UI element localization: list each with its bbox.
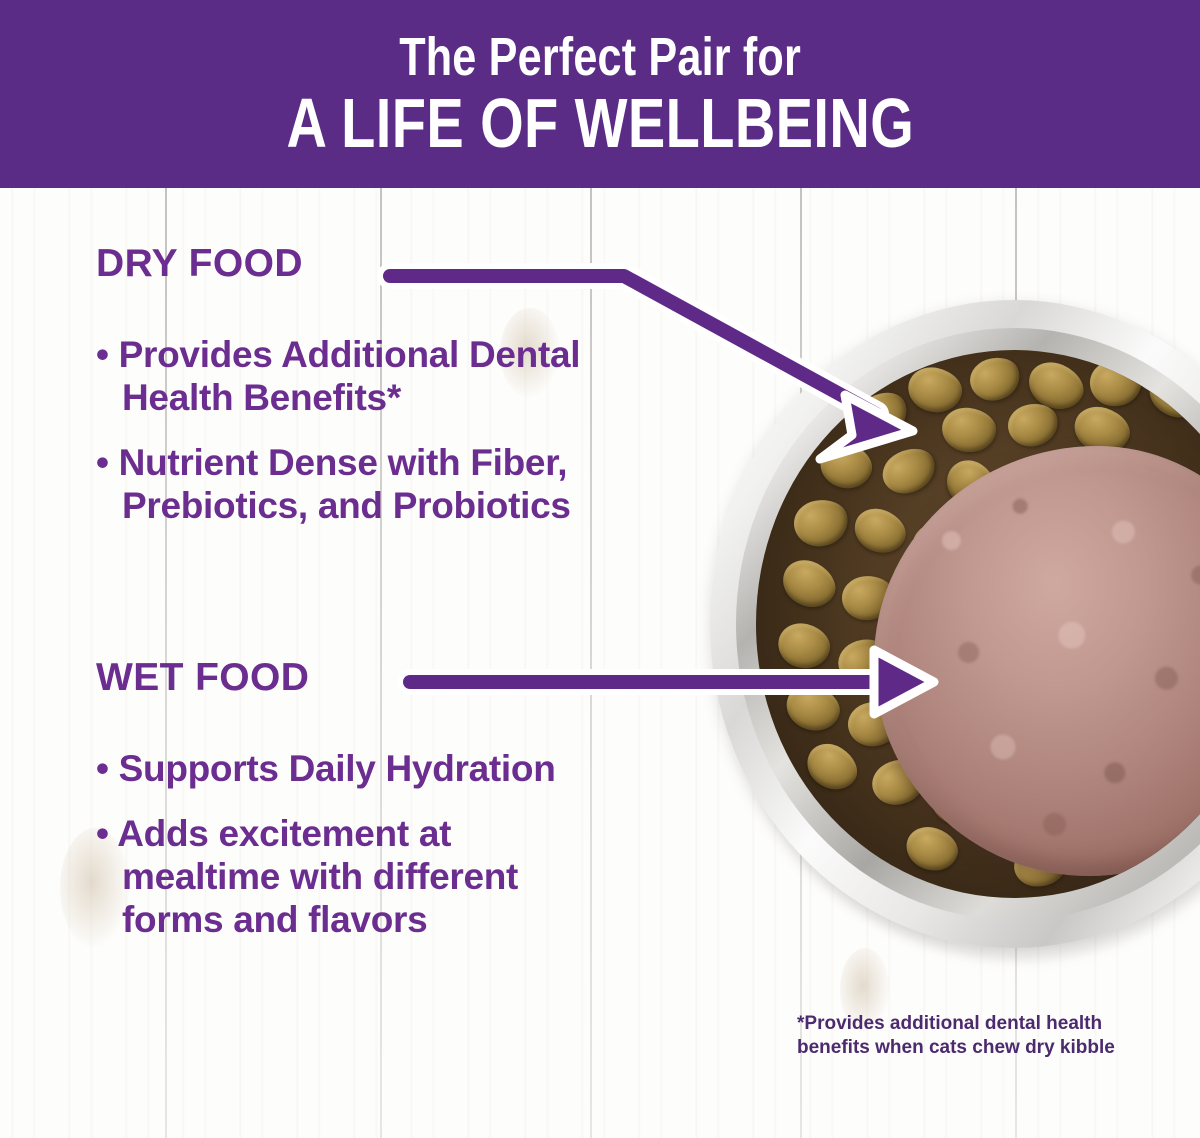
wet-food-heading: WET FOOD (96, 658, 309, 697)
list-item: • Nutrient Dense with Fiber, Prebiotics,… (96, 442, 656, 528)
kibble-piece (775, 552, 843, 616)
footnote-text: *Provides additional dental health benef… (797, 1012, 1157, 1061)
list-item: • Supports Daily Hydration (96, 748, 556, 791)
bullet-text: Provides Additional Dental Health Benefi… (119, 334, 581, 418)
kibble-piece (780, 678, 846, 738)
kibble-piece (799, 735, 865, 798)
kibble-piece (790, 495, 852, 551)
bullet-text: Adds excitement at mealtime with differe… (117, 813, 518, 940)
list-item: • Provides Additional Dental Health Bene… (96, 334, 656, 420)
wet-food-bullet-list: • Supports Daily Hydration • Adds excite… (96, 726, 556, 942)
bullet-dot-icon: • (96, 813, 109, 854)
bullet-dot-icon: • (96, 442, 109, 483)
header-banner: The Perfect Pair for A LIFE OF WELLBEING (0, 0, 1200, 188)
kibble-piece (773, 618, 834, 673)
list-item: • Adds excitement at mealtime with diffe… (96, 813, 556, 942)
wet-food-texture (874, 446, 1200, 876)
bullet-text: Supports Daily Hydration (119, 748, 556, 789)
infographic-stage: The Perfect Pair for A LIFE OF WELLBEING… (0, 0, 1200, 1138)
bullet-text: Nutrient Dense with Fiber, Prebiotics, a… (119, 442, 571, 526)
header-title: A LIFE OF WELLBEING (286, 88, 914, 158)
header-subtitle: The Perfect Pair for (399, 30, 801, 84)
bullet-dot-icon: • (96, 334, 109, 375)
dry-food-bullet-list: • Provides Additional Dental Health Bene… (96, 312, 656, 528)
kibble-piece (815, 438, 877, 495)
cat-food-bowl-image (710, 300, 1200, 980)
wet-food-mound (874, 446, 1200, 876)
bullet-dot-icon: • (96, 748, 109, 789)
kibble-piece (965, 351, 1026, 406)
dry-food-heading: DRY FOOD (96, 244, 303, 283)
